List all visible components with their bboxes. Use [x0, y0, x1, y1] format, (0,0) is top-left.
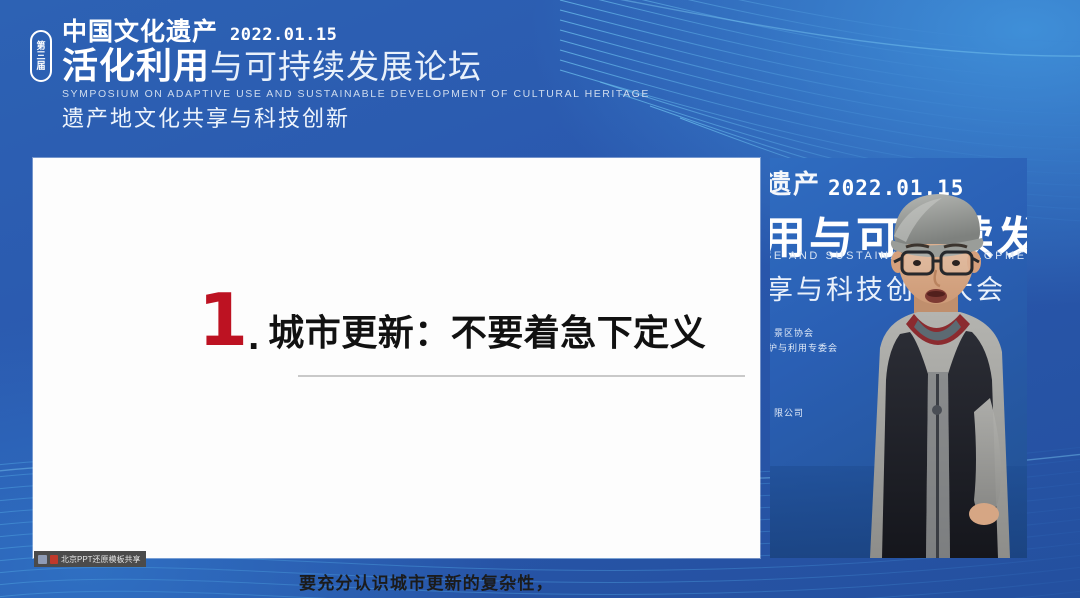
header-subtitle-en: SYMPOSIUM ON ADAPTIVE USE AND SUSTAINABL… — [62, 88, 770, 101]
slide-section-number: 1 — [198, 289, 246, 351]
slide-title: 城市更新：不要着急下定义 — [268, 313, 706, 353]
header-title-cn: 中国文化遗产 — [62, 18, 218, 46]
speaker-figure — [848, 174, 1027, 558]
video-backdrop-small-1: 景区协会 — [774, 326, 814, 339]
video-backdrop-small-3: 限公司 — [774, 406, 804, 419]
speaker-video-panel[interactable]: 遗产 2022.01.15 用与可持续发 SE AND SUSTAINABLE … — [770, 158, 1027, 558]
badge-char-1: 第 — [36, 41, 45, 52]
header-forum-title-light: 与可持续发展论坛 — [210, 46, 482, 88]
slide-title-divider — [298, 375, 745, 377]
watermark-label: 北京PPT还原模板共享 — [61, 555, 141, 564]
event-header: 第 三 届 中国文化遗产 2022.01.15 活化利用 与可持续发展论坛 SY… — [30, 18, 770, 134]
header-date: 2022.01.15 — [230, 25, 337, 45]
slide-panel[interactable]: 1 . 城市更新：不要着急下定义 要充分认识城市更新的复杂性， 但也不要认为城市… — [33, 158, 760, 558]
badge-char-3: 届 — [36, 61, 45, 72]
monitor-icon — [38, 555, 47, 564]
edition-badge: 第 三 届 — [30, 30, 52, 82]
slide-title-row: 1 . 城市更新：不要着急下定义 — [198, 289, 706, 351]
video-backdrop-cn-a: 遗产 — [770, 164, 821, 201]
presentation-stage: 第 三 届 中国文化遗产 2022.01.15 活化利用 与可持续发展论坛 SY… — [0, 0, 1080, 598]
slide-body-line-1: 要充分认识城市更新的复杂性， — [299, 573, 554, 595]
flag-icon — [50, 555, 58, 564]
video-backdrop-small-2: 护与利用专委会 — [770, 341, 838, 354]
slide-section-number-dot: . — [248, 321, 259, 351]
slide-watermark: 北京PPT还原模板共享 — [34, 551, 146, 567]
header-subtitle-cn: 遗产地文化共享与科技创新 — [62, 104, 770, 134]
header-forum-title-bold: 活化利用 — [62, 45, 210, 87]
badge-char-2: 三 — [36, 51, 45, 62]
